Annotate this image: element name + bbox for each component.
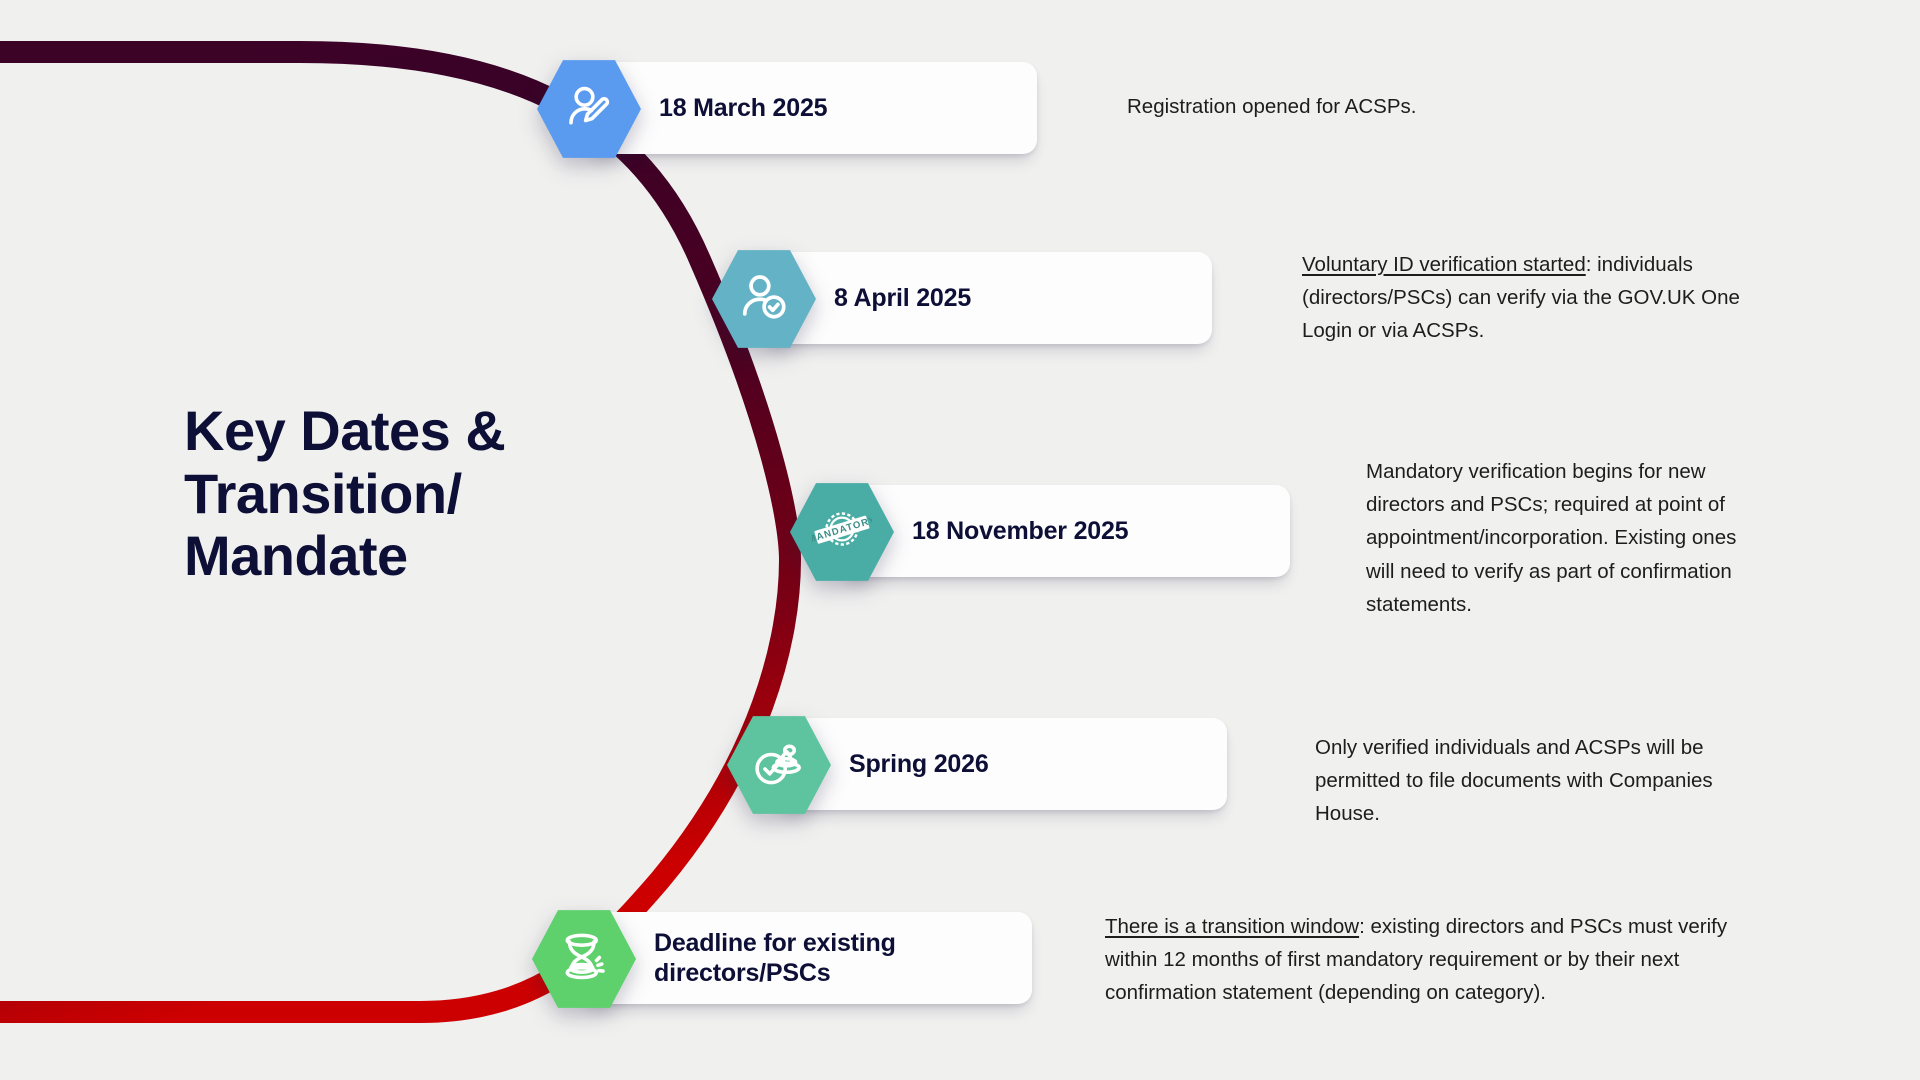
page-title-line-1: Key Dates & (184, 400, 604, 463)
page-title-line-3: Mandate (184, 525, 604, 588)
milestone-badge-mandatory-verification[interactable]: MANDATORY (790, 480, 894, 584)
milestone-badge-voluntary-id-verification[interactable] (712, 247, 816, 351)
milestone-label: Deadline for existing directors/PSCs (654, 928, 896, 989)
milestone-description-voluntary-id-verification: Voluntary ID verification started: indiv… (1302, 248, 1762, 348)
user-verified-icon (736, 269, 792, 330)
milestone-label: Spring 2026 (849, 749, 989, 780)
milestone-badge-filing-restriction[interactable] (727, 713, 831, 817)
milestone-card-existing-directors-deadline[interactable]: Deadline for existing directors/PSCs (580, 912, 1032, 1004)
milestone-badge-existing-directors-deadline[interactable] (532, 907, 636, 1011)
milestone-label: 18 March 2025 (659, 93, 827, 124)
milestone-description-acsp-registration: Registration opened for ACSPs. (1127, 90, 1587, 123)
milestone-badge-acsp-registration[interactable] (537, 57, 641, 161)
page-title-line-2: Transition/ (184, 463, 604, 526)
mandatory-stamp-icon: MANDATORY (812, 500, 872, 565)
description-lead: Voluntary ID verification started (1302, 253, 1586, 276)
milestone-card-voluntary-id-verification[interactable]: 8 April 2025 (760, 252, 1212, 344)
description-body: Mandatory verification begins for new di… (1366, 460, 1736, 616)
milestone-card-acsp-registration[interactable]: 18 March 2025 (585, 62, 1037, 154)
milestone-card-filing-restriction[interactable]: Spring 2026 (775, 718, 1227, 810)
milestone-label: 8 April 2025 (834, 283, 971, 314)
milestone-description-mandatory-verification: Mandatory verification begins for new di… (1366, 455, 1766, 621)
verified-stamp-icon (750, 734, 808, 797)
milestone-card-mandatory-verification[interactable]: 18 November 2025 (838, 485, 1290, 577)
milestone-description-filing-restriction: Only verified individuals and ACSPs will… (1315, 731, 1745, 831)
infographic-canvas: Key Dates & Transition/ Mandate 18 March… (0, 0, 1920, 1080)
page-title: Key Dates & Transition/ Mandate (184, 400, 604, 588)
description-lead: There is a transition window (1105, 915, 1359, 938)
description-body: Registration opened for ACSPs. (1127, 95, 1416, 118)
milestone-description-existing-directors-deadline: There is a transition window: existing d… (1105, 910, 1765, 1010)
description-body: Only verified individuals and ACSPs will… (1315, 736, 1713, 825)
hourglass-icon (555, 928, 613, 991)
user-edit-icon (562, 80, 616, 139)
milestone-label: 18 November 2025 (912, 516, 1128, 547)
